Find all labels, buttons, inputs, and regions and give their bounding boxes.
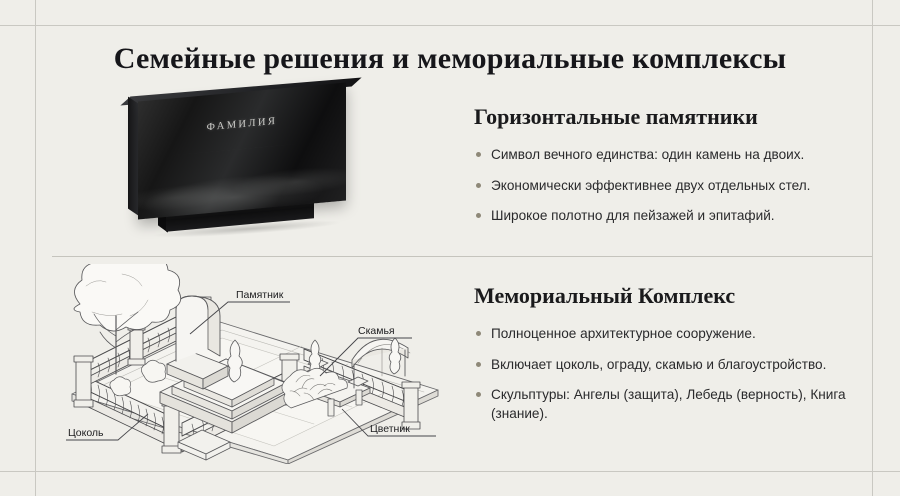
diagram-label-tsokol: Цоколь	[68, 427, 104, 439]
section-horizontal-monuments: Горизонтальные памятники Символ вечного …	[474, 104, 866, 225]
frame-line-bottom	[0, 471, 900, 472]
list-item: Экономически эффективнее двух отдельных …	[474, 176, 866, 195]
frame-line-top	[0, 25, 900, 26]
section-heading-horizontal: Горизонтальные памятники	[474, 104, 866, 129]
section-memorial-complex: Мемориальный Комплекс Полноценное архите…	[474, 283, 866, 423]
section-divider	[52, 256, 872, 257]
memorial-complex-diagram: Памятник Скамья Цоколь Цветник	[52, 264, 452, 464]
list-item: Широкое полотно для пейзажей и эпитафий.	[474, 206, 866, 225]
slide-root: Семейные решения и мемориальные комплекс…	[0, 0, 900, 496]
list-item: Включает цоколь, ограду, скамью и благоу…	[474, 355, 866, 374]
monument-engraved-surname: ФАМИЛИЯ	[138, 110, 346, 140]
diagram-label-skamya: Скамья	[358, 325, 395, 337]
bullet-list-complex: Полноценное архитектурное сооружение. Вк…	[474, 324, 866, 423]
list-item: Скульптуры: Ангелы (защита), Лебедь (вер…	[474, 385, 866, 424]
section-heading-complex: Мемориальный Комплекс	[474, 283, 866, 308]
bullet-list-horizontal: Символ вечного единства: один камень на …	[474, 145, 866, 225]
diagram-label-pamyatnik: Памятник	[236, 289, 284, 301]
monument-stone-front-face: ФАМИЛИЯ	[138, 83, 346, 220]
list-item: Символ вечного единства: один камень на …	[474, 145, 866, 164]
horizontal-monument-image: ФАМИЛИЯ	[120, 88, 370, 240]
page-title: Семейные решения и мемориальные комплекс…	[0, 42, 900, 76]
diagram-label-tsvetnik: Цветник	[370, 423, 410, 435]
list-item: Полноценное архитектурное сооружение.	[474, 324, 866, 343]
